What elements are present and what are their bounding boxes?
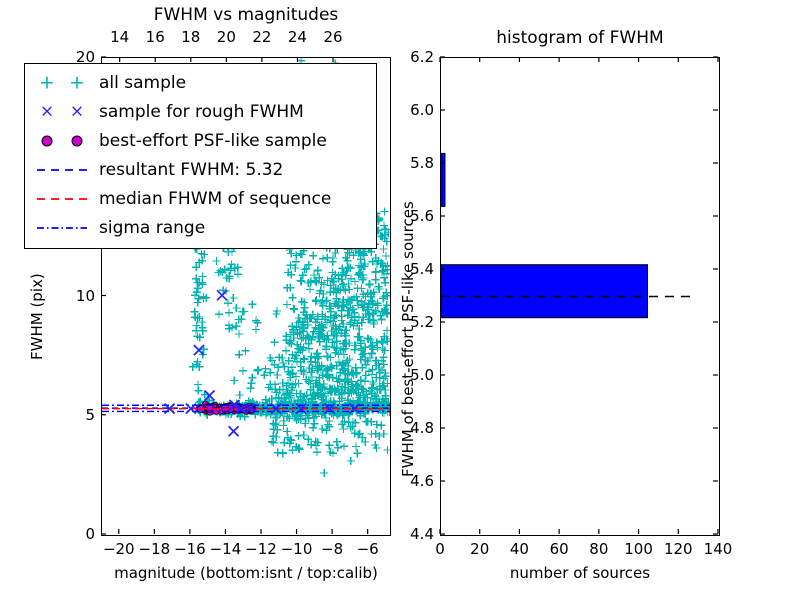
- left-top-tick: 20: [217, 28, 236, 46]
- legend-item: median FHWM of sequence: [25, 184, 376, 213]
- legend-item: ××sample for rough FWHM: [25, 97, 376, 126]
- left-x-tick: −8: [321, 540, 343, 558]
- left-x-tick: −14: [210, 540, 242, 558]
- legend-label: median FHWM of sequence: [99, 189, 331, 209]
- cross-icon: ××: [25, 97, 99, 126]
- left-top-tick: 14: [110, 28, 129, 46]
- legend-item: best-effort PSF-like sample: [25, 126, 376, 155]
- dashed-line-icon: [25, 155, 99, 184]
- right-plot-canvas: [441, 58, 719, 535]
- right-y-tick: 6.2: [410, 48, 434, 66]
- legend-label: best-effort PSF-like sample: [99, 131, 327, 151]
- right-x-tick: 60: [550, 540, 569, 558]
- left-top-tick: 22: [252, 28, 271, 46]
- right-plot-title: histogram of FWHM: [440, 28, 720, 48]
- right-x-tick: 80: [589, 540, 608, 558]
- plus-icon: ++: [25, 68, 99, 97]
- left-top-tick: 24: [288, 28, 307, 46]
- right-x-tick: 100: [624, 540, 653, 558]
- right-y-tick: 4.8: [410, 419, 434, 437]
- right-y-tick: 6.0: [410, 101, 434, 119]
- dashed-line-icon: [25, 184, 99, 213]
- right-x-tick: 140: [704, 540, 733, 558]
- right-x-tick: 120: [664, 540, 693, 558]
- left-x-tick: −16: [174, 540, 206, 558]
- left-x-tick: −6: [357, 540, 379, 558]
- left-y-tick: 10: [76, 287, 95, 305]
- left-top-tick: 16: [146, 28, 165, 46]
- left-top-tick: 18: [181, 28, 200, 46]
- left-y-tick: 0: [85, 525, 95, 543]
- filled-circle-icon: [25, 126, 99, 155]
- legend-label: all sample: [99, 73, 186, 93]
- right-y-tick: 5.0: [410, 366, 434, 384]
- right-y-tick: 4.4: [410, 525, 434, 543]
- left-y-tick: 5: [85, 406, 95, 424]
- right-y-tick: 5.2: [410, 313, 434, 331]
- left-xlabel: magnitude (bottom:isnt / top:calib): [101, 564, 391, 582]
- right-x-tick: 20: [470, 540, 489, 558]
- right-y-tick: 5.8: [410, 154, 434, 172]
- right-plot-frame: [440, 57, 720, 536]
- legend-box: ++all sample××sample for rough FWHMbest-…: [24, 63, 377, 249]
- legend-item: resultant FWHM: 5.32: [25, 155, 376, 184]
- left-plot-title: FWHM vs magnitudes: [101, 5, 391, 25]
- right-y-tick: 5.4: [410, 260, 434, 278]
- dashdot-line-icon: [25, 213, 99, 242]
- figure-canvas: FWHM vs magnitudes magnitude (bottom:isn…: [0, 0, 800, 600]
- right-y-tick: 5.6: [410, 207, 434, 225]
- left-x-tick: −12: [245, 540, 277, 558]
- left-x-tick: −10: [281, 540, 313, 558]
- right-x-tick: 40: [510, 540, 529, 558]
- legend-item: ++all sample: [25, 68, 376, 97]
- legend-label: sample for rough FWHM: [99, 102, 304, 122]
- right-xlabel: number of sources: [440, 564, 720, 582]
- left-x-tick: −18: [139, 540, 171, 558]
- legend-label: resultant FWHM: 5.32: [99, 160, 283, 180]
- legend-item: sigma range: [25, 213, 376, 242]
- legend-label: sigma range: [99, 218, 205, 238]
- left-ylabel: FWHM (pix): [28, 273, 46, 360]
- right-y-tick: 4.6: [410, 472, 434, 490]
- right-x-tick: 0: [435, 540, 445, 558]
- left-x-tick: −20: [103, 540, 135, 558]
- left-top-tick: 26: [323, 28, 342, 46]
